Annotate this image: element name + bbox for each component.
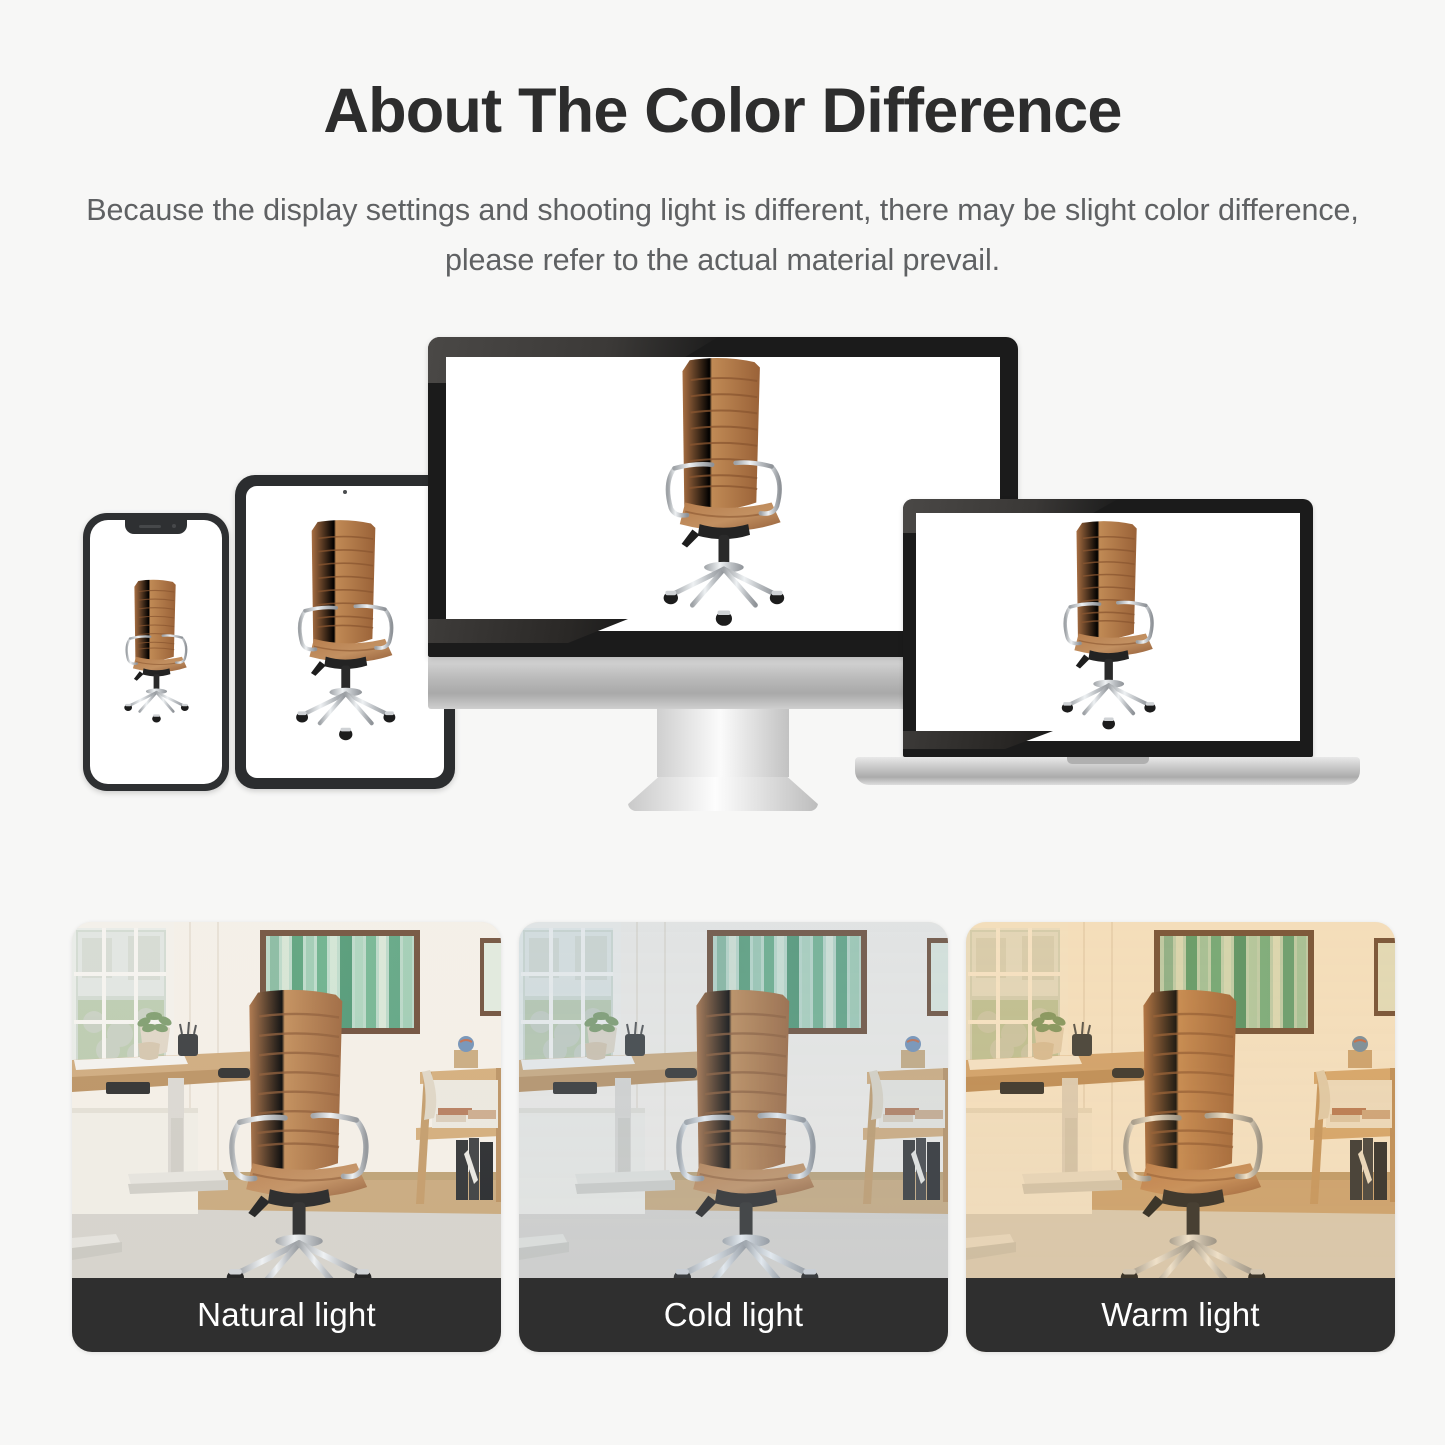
tablet-body [235, 475, 455, 789]
page-title: About The Color Difference [0, 78, 1445, 144]
lighting-card-label: Cold light [519, 1278, 948, 1352]
laptop-lid [903, 499, 1313, 757]
smartphone-body [83, 513, 229, 791]
smartphone-screen [90, 520, 222, 784]
laptop-base [855, 757, 1360, 785]
lighting-card-natural[interactable]: Natural light [72, 922, 501, 1352]
tablet-screen [246, 486, 444, 778]
monitor-stand-neck [657, 709, 789, 777]
tablet-mockup [235, 475, 455, 789]
monitor-stand-foot [628, 777, 818, 811]
product-image-laptop [916, 513, 1300, 741]
product-image-smartphone [90, 520, 222, 784]
header: About The Color Difference Because the d… [0, 0, 1445, 285]
lighting-card-label: Natural light [72, 1278, 501, 1352]
laptop-hinge-notch [1067, 757, 1149, 764]
smartphone-mockup [83, 513, 229, 791]
page-subtitle: Because the display settings and shootin… [78, 186, 1368, 285]
laptop-mockup [903, 499, 1360, 785]
product-image-tablet [246, 486, 444, 778]
lighting-card-warm[interactable]: Warm light [966, 922, 1395, 1352]
lighting-comparison-cards: Natural light Cold light Warm light [72, 922, 1395, 1352]
lighting-card-label: Warm light [966, 1278, 1395, 1352]
device-mockups-row [0, 323, 1445, 823]
lighting-card-cold[interactable]: Cold light [519, 922, 948, 1352]
color-difference-page: About The Color Difference Because the d… [0, 0, 1445, 1445]
smartphone-notch [125, 520, 187, 534]
laptop-screen [916, 513, 1300, 741]
